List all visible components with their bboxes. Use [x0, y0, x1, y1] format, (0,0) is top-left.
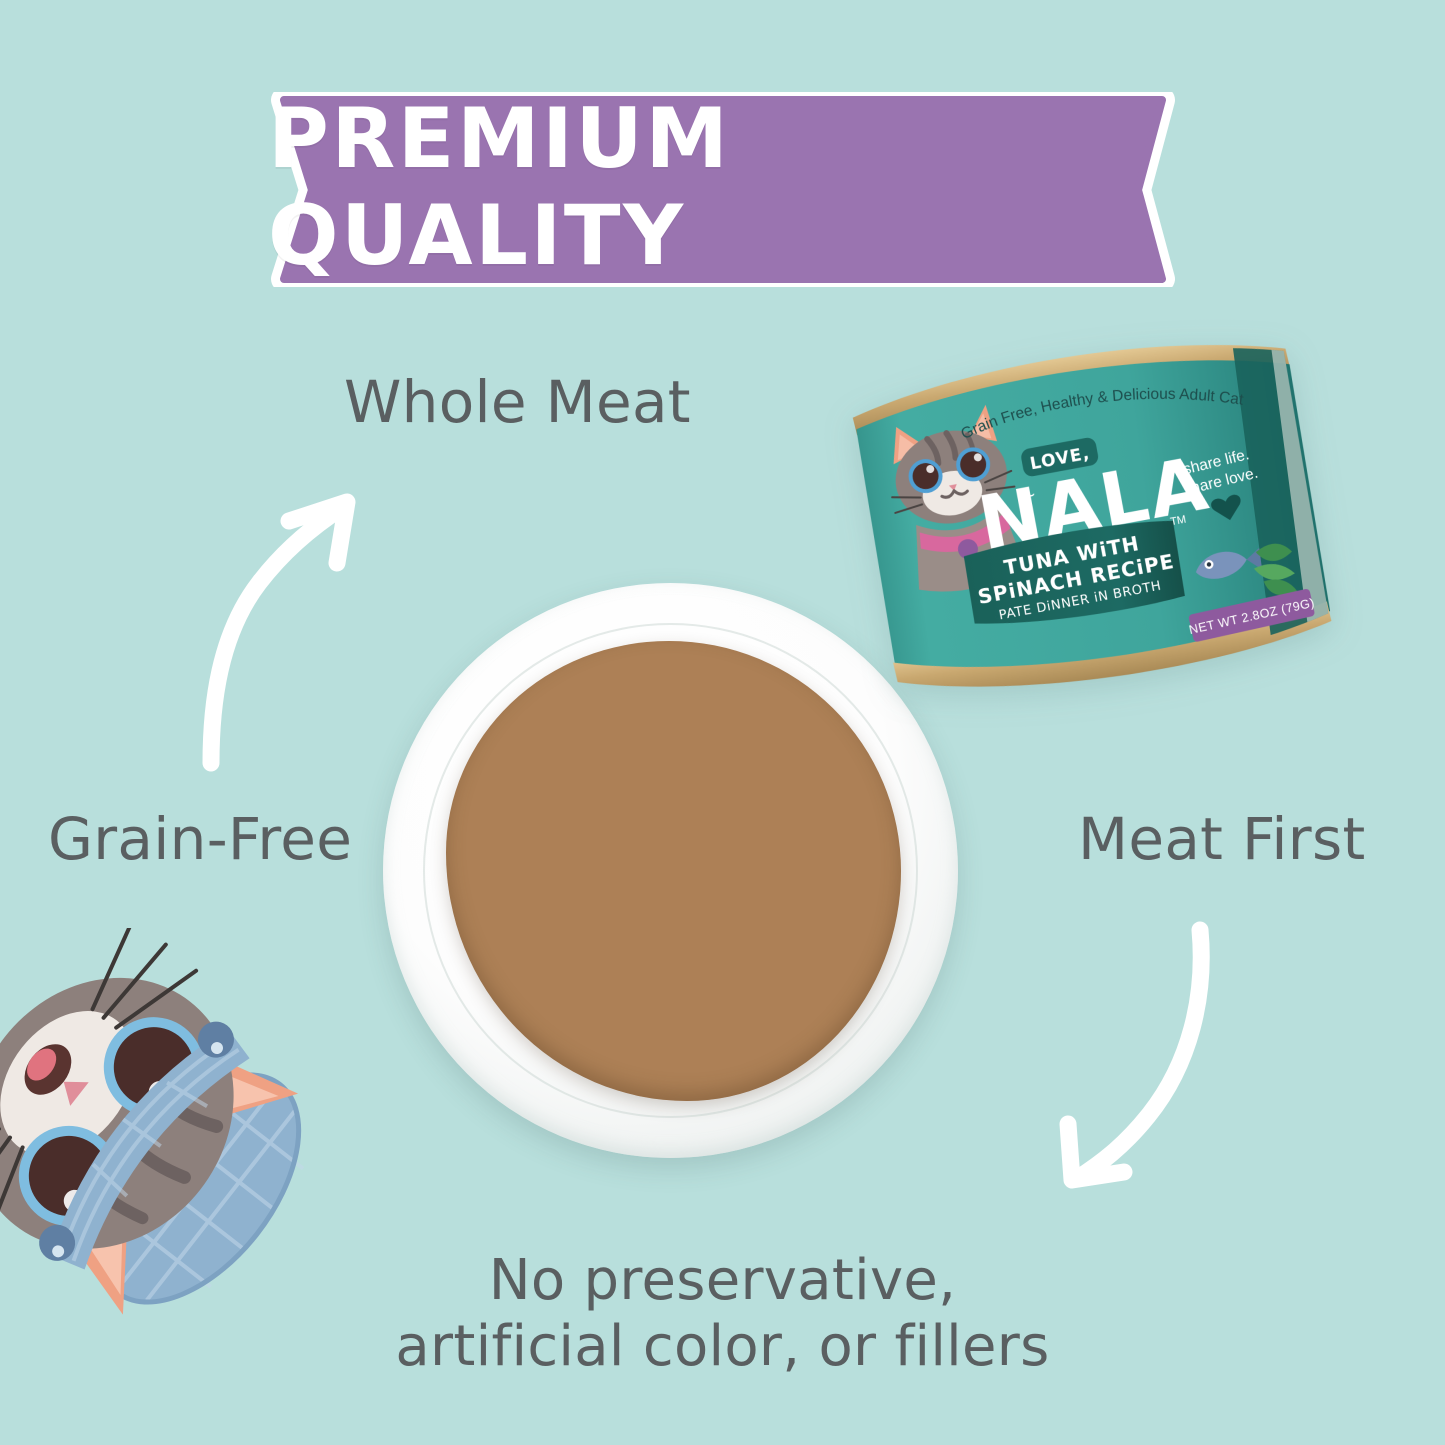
food-description: shredded pate cat food: [383, 583, 384, 584]
feature-label-whole-meat: Whole Meat: [344, 368, 691, 436]
banner-title: PREMIUM QUALITY: [268, 92, 1178, 287]
product-can: Grain Free, Healthy & Delicious Adult Ca…: [831, 315, 1343, 723]
can-artwork: Grain Free, Healthy & Delicious Adult Ca…: [831, 315, 1343, 723]
infographic-canvas: PREMIUM QUALITY Whole Meat Grain-Free Me…: [0, 0, 1445, 1445]
premium-quality-banner: PREMIUM QUALITY: [268, 92, 1178, 287]
arrow-down-left-icon: [1000, 900, 1230, 1200]
feature-label-grain-free: Grain-Free: [48, 805, 352, 873]
arrow-up-right-icon: [175, 485, 405, 775]
feature-label-meat-first: Meat First: [1078, 805, 1366, 873]
nala-mascot-illustration: [0, 928, 314, 1348]
